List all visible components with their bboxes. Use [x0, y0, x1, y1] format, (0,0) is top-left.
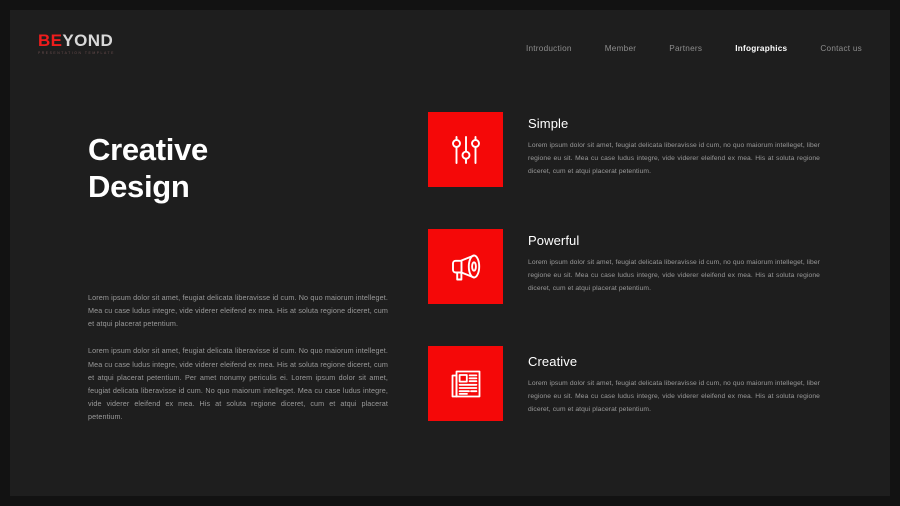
newspaper-icon	[447, 365, 485, 403]
feature-description-simple: Lorem ipsum dolor sit amet, feugiat deli…	[528, 140, 820, 179]
feature-item-powerful[interactable]: Powerful Lorem ipsum dolor sit amet, feu…	[428, 229, 848, 304]
feature-description-creative: Lorem ipsum dolor sit amet, feugiat deli…	[528, 378, 820, 417]
feature-text-powerful: Powerful Lorem ipsum dolor sit amet, feu…	[503, 229, 848, 296]
feature-icon-box-powerful	[428, 229, 503, 304]
brand-name-accent: BE	[38, 31, 62, 50]
feature-title-simple: Simple	[528, 116, 848, 131]
feature-icon-box-simple	[428, 112, 503, 187]
feature-text-creative: Creative Lorem ipsum dolor sit amet, feu…	[503, 346, 848, 417]
brand-name-rest: YOND	[62, 31, 113, 50]
feature-description-powerful: Lorem ipsum dolor sit amet, feugiat deli…	[528, 257, 820, 296]
header-bar: BEYOND PRESENTATION TEMPLATE Introductio…	[10, 10, 890, 72]
feature-icon-box-creative	[428, 346, 503, 421]
page-title-line-2: Design	[88, 169, 190, 204]
nav-item-partners[interactable]: Partners	[669, 44, 702, 53]
feature-title-creative: Creative	[528, 354, 848, 369]
page-title: Creative Design	[88, 132, 388, 205]
feature-title-powerful: Powerful	[528, 233, 848, 248]
left-paragraph-1: Lorem ipsum dolor sit amet, feugiat deli…	[88, 291, 388, 330]
feature-text-simple: Simple Lorem ipsum dolor sit amet, feugi…	[503, 112, 848, 179]
nav-item-infographics[interactable]: Infographics	[735, 44, 787, 53]
nav-item-contact-us[interactable]: Contact us	[820, 44, 862, 53]
left-paragraph-2: Lorem ipsum dolor sit amet, feugiat deli…	[88, 344, 388, 423]
brand-logo[interactable]: BEYOND PRESENTATION TEMPLATE	[38, 32, 115, 55]
left-body-text: Lorem ipsum dolor sit amet, feugiat deli…	[88, 291, 388, 423]
sliders-icon	[448, 132, 484, 168]
brand-tagline: PRESENTATION TEMPLATE	[38, 52, 115, 55]
brand-wordmark: BEYOND	[38, 32, 115, 49]
slide-root: BEYOND PRESENTATION TEMPLATE Introductio…	[0, 0, 900, 506]
feature-item-simple[interactable]: Simple Lorem ipsum dolor sit amet, feugi…	[428, 112, 848, 187]
page-title-line-1: Creative	[88, 132, 208, 167]
left-content-column: Creative Design Lorem ipsum dolor sit am…	[88, 132, 388, 423]
main-navigation: Introduction Member Partners Infographic…	[526, 44, 862, 53]
feature-list: Simple Lorem ipsum dolor sit amet, feugi…	[428, 112, 848, 421]
feature-item-creative[interactable]: Creative Lorem ipsum dolor sit amet, feu…	[428, 346, 848, 421]
nav-item-member[interactable]: Member	[605, 44, 637, 53]
megaphone-icon	[447, 248, 485, 286]
nav-item-introduction[interactable]: Introduction	[526, 44, 572, 53]
